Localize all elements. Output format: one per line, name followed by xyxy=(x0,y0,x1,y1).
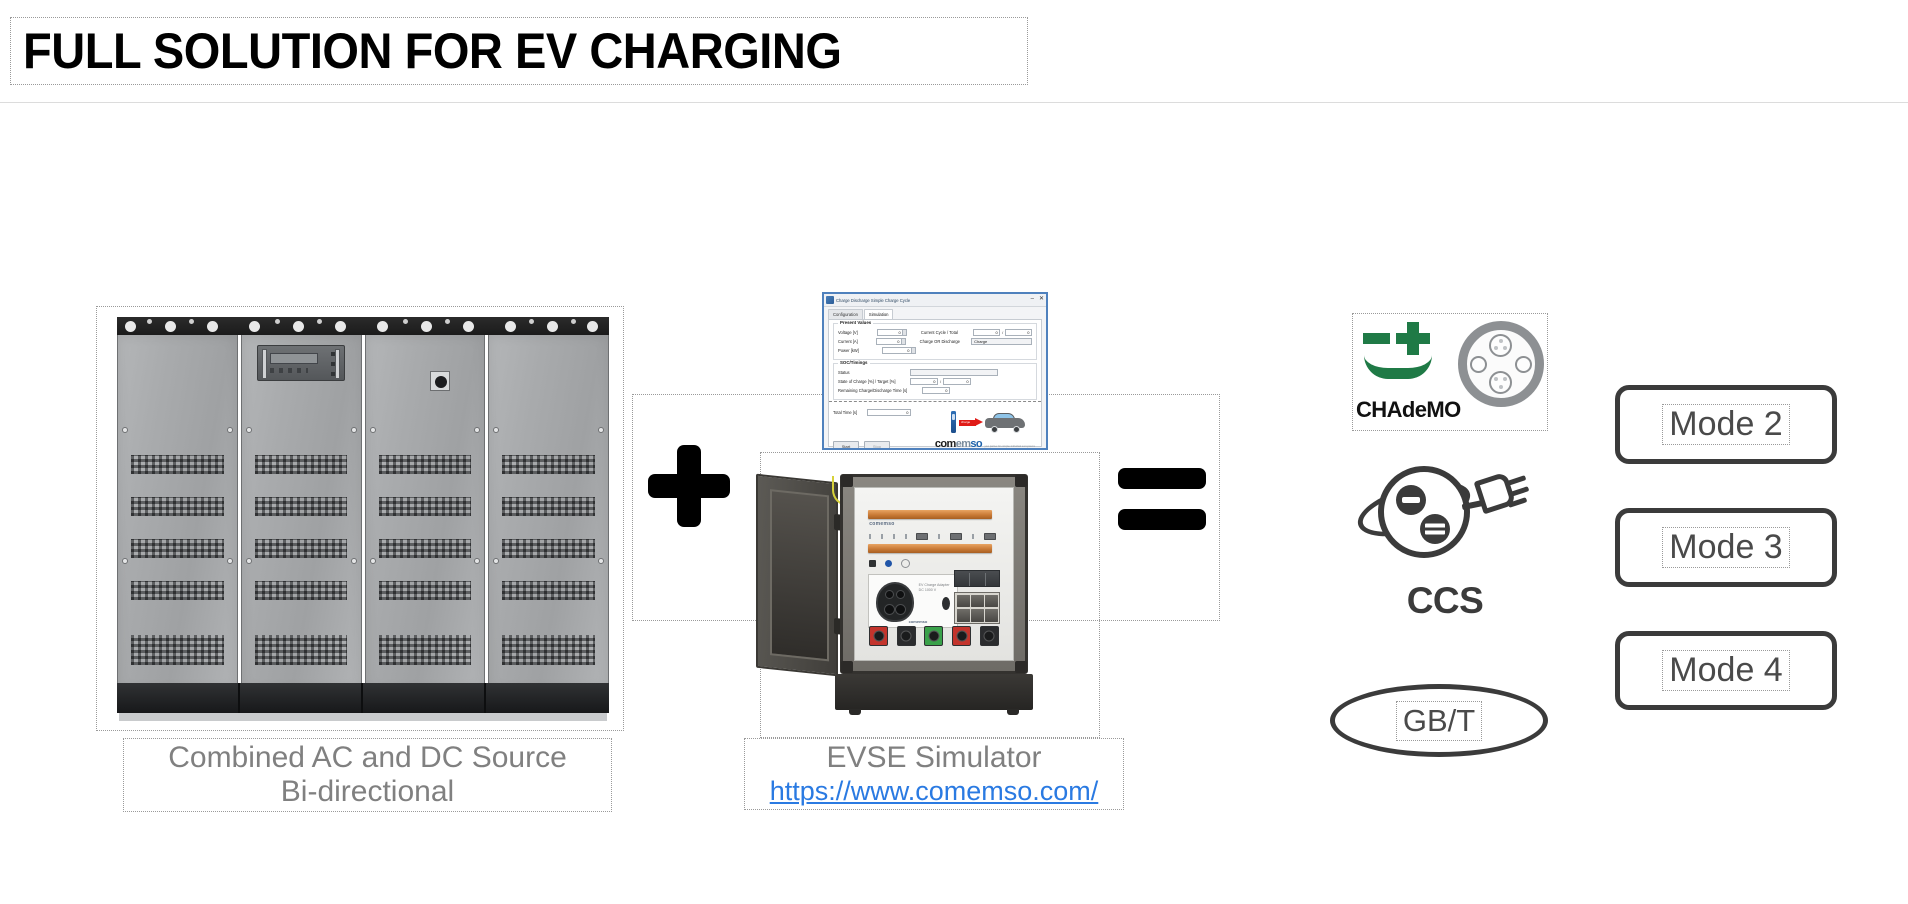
cabinet-open-door xyxy=(756,474,838,677)
ccs-logo-icon xyxy=(1350,462,1540,572)
software-tabs[interactable]: Configuration Simulation xyxy=(824,307,1046,319)
ccs-pin-minus xyxy=(1420,514,1450,544)
cabinet-base xyxy=(117,683,609,713)
page-title[interactable]: FULL SOLUTION FOR EV CHARGING xyxy=(10,17,1028,85)
status-label: Status xyxy=(838,370,910,375)
car-icon xyxy=(985,413,1025,433)
cabinet-panel xyxy=(488,335,609,690)
jack-red-2[interactable] xyxy=(952,626,971,646)
terminal-shroud xyxy=(954,570,1000,587)
evse-enclosure: comemso EV Charge AdapterDC 1000 V comem… xyxy=(840,474,1028,674)
source-caption[interactable]: Combined AC and DC Source Bi-directional xyxy=(123,738,612,812)
ccs-inlet-module: EV Charge AdapterDC 1000 V comemso xyxy=(868,574,958,628)
row-soc: State of Charge [%] / Target [%] 0 / 0 xyxy=(838,378,1032,385)
software-window-titlebar[interactable]: Charge Discharge Simple Charge Cycle – ✕ xyxy=(824,294,1046,307)
cabinet-panel-display xyxy=(241,335,362,690)
status-field[interactable] xyxy=(910,369,998,376)
copper-busbar xyxy=(868,544,993,553)
cabinet-power-switch-icon xyxy=(430,371,450,391)
ac-dc-source-cabinet-icon xyxy=(106,313,616,725)
comemso-logo: comemso your partner for complex individ… xyxy=(935,435,1035,450)
jack-black-2[interactable] xyxy=(980,626,999,646)
panel-brand-text: comemso xyxy=(869,521,894,527)
software-window-title: Charge Discharge Simple Charge Cycle xyxy=(836,298,910,303)
ccs-circle xyxy=(1378,466,1470,558)
voltage-spinner[interactable] xyxy=(903,329,907,336)
current-cycle-total-label: Current Cycle / Total xyxy=(921,330,974,335)
gbt-label: GB/T xyxy=(1396,701,1482,741)
logo-part-so: so xyxy=(970,438,982,450)
current-spinner[interactable] xyxy=(902,338,906,345)
voltage-field[interactable]: 0 xyxy=(877,329,904,336)
row-status: Status xyxy=(838,369,1032,376)
charger-post-icon xyxy=(951,411,956,433)
charge-or-discharge-field[interactable]: Charge xyxy=(971,338,1032,345)
ccs-prong xyxy=(1507,475,1527,486)
row-remaining-time: Remaining Charge/Discharge Time [s] 0 xyxy=(838,387,1032,394)
cabinet-foot xyxy=(119,713,607,721)
present-values-group: Present Values Voltage [V] 0 Current Cyc… xyxy=(833,323,1037,360)
latch-icon xyxy=(942,597,950,610)
total-time-label: Total Time [s] xyxy=(833,410,867,415)
charge-or-discharge-label: Charge OR Discharge xyxy=(920,339,972,344)
power-label: Power [kW] xyxy=(838,348,882,353)
logo-part-em: em xyxy=(956,438,971,450)
soc-target-field[interactable]: 0 xyxy=(943,378,971,385)
chademo-logo-icon: CHAdeMO xyxy=(1352,313,1548,431)
charging-software-window[interactable]: Charge Discharge Simple Charge Cycle – ✕… xyxy=(822,292,1048,450)
mode-2-box[interactable]: Mode 2 xyxy=(1615,385,1837,464)
app-icon xyxy=(826,296,834,304)
slide-canvas: FULL SOLUTION FOR EV CHARGING xyxy=(0,0,1908,904)
current-cycle-field[interactable]: 0 xyxy=(973,329,1000,336)
ccs-connector-icon xyxy=(876,582,914,622)
module-brand-text: comemso xyxy=(909,619,928,624)
start-button[interactable]: Start xyxy=(833,441,859,450)
total-time-field[interactable]: 0 xyxy=(867,409,911,416)
cabinet-panels xyxy=(117,335,609,690)
logo-tagline: your partner for complex individual test… xyxy=(985,445,1036,448)
power-spinner[interactable] xyxy=(912,347,916,354)
safety-jack-row xyxy=(869,626,999,648)
total-cycles-field[interactable]: 0 xyxy=(1005,329,1032,336)
row-current: Current [A] 0 Charge OR Discharge Charge xyxy=(838,338,1032,345)
evse-caption-text: EVSE Simulator xyxy=(826,741,1041,776)
module-row xyxy=(869,532,995,540)
equals-icon xyxy=(1118,468,1206,530)
charge-arrow-icon: charge xyxy=(959,418,983,427)
remaining-time-field[interactable]: 0 xyxy=(922,387,950,394)
tab-configuration[interactable]: Configuration xyxy=(828,309,863,319)
cabinet-control-display xyxy=(257,345,345,381)
chademo-label: CHAdeMO xyxy=(1356,397,1461,423)
current-field[interactable]: 0 xyxy=(876,338,902,345)
comemso-website-link[interactable]: https://www.comemso.com/ xyxy=(770,776,1099,807)
plus-icon xyxy=(648,445,730,527)
ccs-pin-plus xyxy=(1396,485,1426,515)
evse-caption[interactable]: EVSE Simulator https://www.comemso.com/ xyxy=(744,738,1124,810)
logo-part-com: com xyxy=(935,438,956,450)
cabinet-top-vent xyxy=(117,317,609,335)
voltage-label: Voltage [V] xyxy=(838,330,877,335)
copper-busbar xyxy=(868,510,993,519)
software-footer: Start Stop comemso your partner for comp… xyxy=(833,441,1037,450)
cabinet-plinth xyxy=(835,674,1033,710)
soc-field[interactable]: 0 xyxy=(910,378,938,385)
gbt-standard-badge[interactable]: GB/T xyxy=(1330,684,1548,757)
close-icon[interactable]: ✕ xyxy=(1039,296,1044,302)
source-caption-line2: Bi-directional xyxy=(281,775,454,809)
stop-button[interactable]: Stop xyxy=(864,441,890,450)
mode-3-label: Mode 3 xyxy=(1662,527,1789,568)
present-values-legend: Present Values xyxy=(838,320,873,325)
chademo-connector-icon xyxy=(1458,321,1544,407)
control-row xyxy=(869,558,980,568)
soc-target-label: State of Charge [%] / Target [%] xyxy=(838,379,910,384)
mode-4-box[interactable]: Mode 4 xyxy=(1615,631,1837,710)
row-power: Power [kW] 0 xyxy=(838,347,1032,354)
row-voltage: Voltage [V] 0 Current Cycle / Total 0 / … xyxy=(838,329,1032,336)
terminal-block xyxy=(954,592,1000,624)
module-text: EV Charge AdapterDC 1000 V xyxy=(919,583,950,594)
selection-dash-divider xyxy=(829,401,1041,402)
jack-red-1[interactable] xyxy=(869,626,888,646)
title-band: FULL SOLUTION FOR EV CHARGING xyxy=(0,0,1908,103)
current-label: Current [A] xyxy=(838,339,876,344)
power-field[interactable]: 0 xyxy=(882,347,912,354)
soc-timings-group: SOC/Timings Status State of Charge [%] /… xyxy=(833,363,1037,400)
page-title-text: FULL SOLUTION FOR EV CHARGING xyxy=(23,22,841,80)
chademo-face-icon xyxy=(1358,319,1454,397)
mode-4-label: Mode 4 xyxy=(1662,650,1789,691)
remaining-time-label: Remaining Charge/Discharge Time [s] xyxy=(838,388,922,393)
window-controls[interactable]: – ✕ xyxy=(1031,296,1044,302)
mode-2-label: Mode 2 xyxy=(1662,404,1789,445)
evse-front-panel: comemso EV Charge AdapterDC 1000 V comem… xyxy=(854,487,1014,661)
mode-3-box[interactable]: Mode 3 xyxy=(1615,508,1837,587)
jack-black-1[interactable] xyxy=(897,626,916,646)
charge-arrow-label: charge xyxy=(961,420,970,424)
ccs-label: CCS xyxy=(1390,580,1500,622)
soc-timings-legend: SOC/Timings xyxy=(838,360,870,365)
cabinet-panel xyxy=(117,335,238,690)
evse-simulator-cabinet-icon: comemso EV Charge AdapterDC 1000 V comem… xyxy=(740,450,1060,740)
tab-simulation[interactable]: Simulation xyxy=(864,309,894,319)
software-window-body: Present Values Voltage [V] 0 Current Cyc… xyxy=(828,319,1042,447)
cycle-separator: / xyxy=(1002,330,1003,335)
minimize-icon[interactable]: – xyxy=(1031,296,1034,302)
soc-separator: / xyxy=(940,379,941,384)
source-caption-line1: Combined AC and DC Source xyxy=(168,741,567,775)
ccs-prong xyxy=(1510,486,1530,497)
cabinet-panel-switch xyxy=(365,335,486,690)
jack-green[interactable] xyxy=(924,626,943,646)
